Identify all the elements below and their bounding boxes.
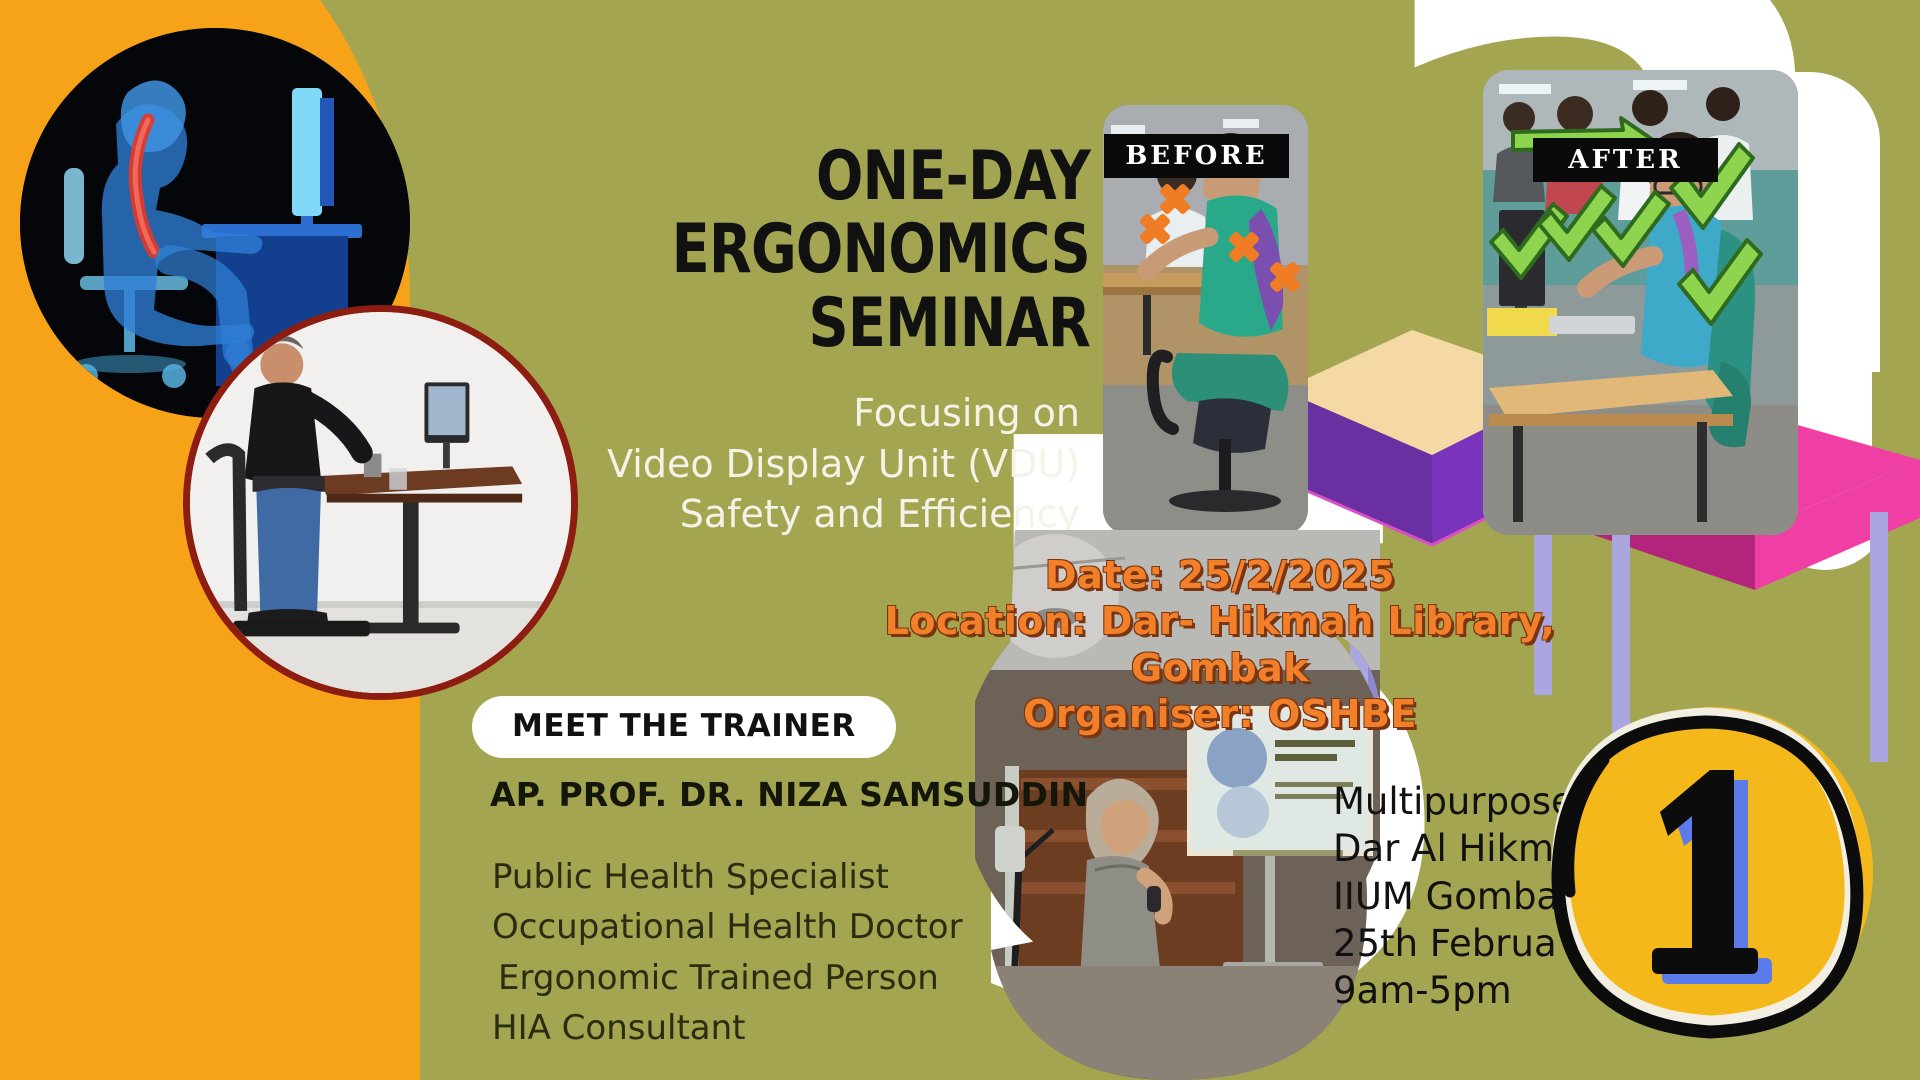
orange-background-blob-lower xyxy=(0,640,420,1080)
trainer-credentials: Public Health Specialist Occupational He… xyxy=(492,852,963,1053)
headline-line-1: ONE-DAY ERGONOMICS xyxy=(672,137,1090,289)
credential-item: Ergonomic Trained Person xyxy=(492,953,963,1003)
number-badge xyxy=(1548,700,1878,1040)
page-title: ONE-DAY ERGONOMICS SEMINAR xyxy=(549,140,1090,360)
trainer-name: AP. PROF. DR. NIZA SAMSUDDIN xyxy=(490,775,1088,814)
event-location-2: Gombak xyxy=(880,645,1560,691)
subtitle-line-1: Focusing on xyxy=(560,388,1080,439)
credential-item: HIA Consultant xyxy=(492,1003,963,1053)
before-label: BEFORE xyxy=(1104,134,1289,178)
event-organiser: Organiser: OSHBE xyxy=(880,691,1560,737)
event-date: Date: 25/2/2025 xyxy=(880,552,1560,598)
subtitle: Focusing on Video Display Unit (VDU) Saf… xyxy=(560,388,1080,540)
credential-item: Public Health Specialist xyxy=(492,852,963,902)
poster-canvas: 3 5 xyxy=(0,0,1920,1080)
meet-the-trainer-pill: MEET THE TRAINER xyxy=(472,696,896,758)
credential-item: Occupational Health Doctor xyxy=(492,902,963,952)
event-location: Location: Dar- Hikmah Library, xyxy=(880,598,1560,644)
standing-desk-image xyxy=(183,305,578,700)
event-details: Date: 25/2/2025 Location: Dar- Hikmah Li… xyxy=(880,552,1560,737)
after-label: AFTER xyxy=(1533,138,1718,182)
subtitle-line-2: Video Display Unit (VDU) xyxy=(560,439,1080,490)
headline-line-2: SEMINAR xyxy=(549,287,1090,360)
